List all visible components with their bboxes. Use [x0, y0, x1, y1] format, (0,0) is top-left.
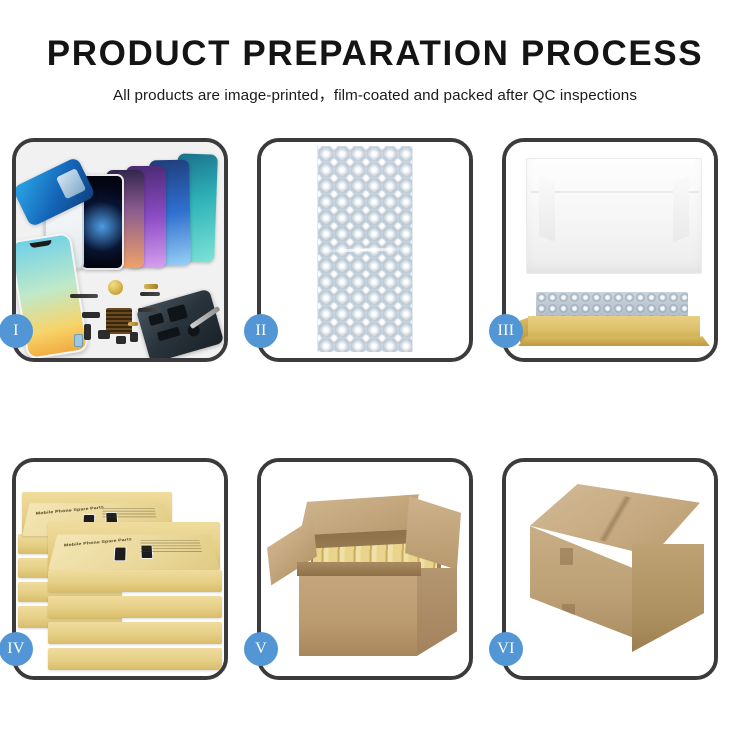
carton-tape-tab-upper — [560, 548, 573, 565]
step-panel-5[interactable]: V — [257, 458, 473, 680]
header: PRODUCT PREPARATION PROCESS All products… — [0, 34, 750, 105]
carton-flap-front — [297, 562, 421, 576]
step-badge-6: VI — [489, 632, 523, 666]
lid-flap-right — [673, 176, 689, 242]
page-title: PRODUCT PREPARATION PROCESS — [0, 34, 750, 74]
step-image-bubble-wrap — [261, 142, 469, 358]
step-badge-3: III — [489, 314, 523, 348]
carton-tape-tab-lower — [562, 604, 575, 621]
carton-side-right — [417, 568, 457, 656]
step-badge-4: IV — [0, 632, 33, 666]
page-subtitle: All products are image-printed，film-coat… — [0, 83, 750, 105]
step-panel-3[interactable]: III — [502, 138, 718, 362]
step-panel-4[interactable]: Mobile Phone Spare Parts Mobile Phone Sp… — [12, 458, 228, 680]
box-stack: Mobile Phone Spare Parts Mobile Phone Sp… — [18, 476, 224, 668]
product-preparation-infographic: PRODUCT PREPARATION PROCESS All products… — [0, 0, 750, 750]
step-image-inner-box — [506, 142, 714, 358]
step-image-sealed-carton — [506, 462, 714, 676]
steps-grid: I II III — [12, 138, 738, 680]
step-badge-2: II — [244, 314, 278, 348]
box-lid-top-2: Mobile Phone Spare Parts — [48, 535, 220, 570]
lid-flap-left — [539, 176, 555, 242]
bubble-wrapped-item — [536, 292, 688, 318]
step-panel-6[interactable]: VI — [502, 458, 718, 680]
step-badge-1: I — [0, 314, 33, 348]
open-shipping-carton — [267, 484, 467, 662]
step-image-open-carton — [261, 462, 469, 676]
inner-box-lid — [526, 158, 702, 274]
sealed-shipping-carton — [516, 484, 712, 660]
step-badge-5: V — [244, 632, 278, 666]
inner-box-base — [528, 316, 700, 340]
step-panel-2[interactable]: II — [257, 138, 473, 362]
box-spec-lines-1 — [102, 508, 156, 519]
box-spec-lines-2 — [140, 540, 202, 552]
spare-parts-cluster — [68, 278, 188, 354]
step-panel-1[interactable]: I — [12, 138, 228, 362]
carton-front-face — [299, 568, 417, 656]
step-image-products — [16, 142, 224, 358]
carton-right-face — [632, 544, 704, 652]
step-image-stacked-boxes: Mobile Phone Spare Parts Mobile Phone Sp… — [16, 462, 224, 676]
